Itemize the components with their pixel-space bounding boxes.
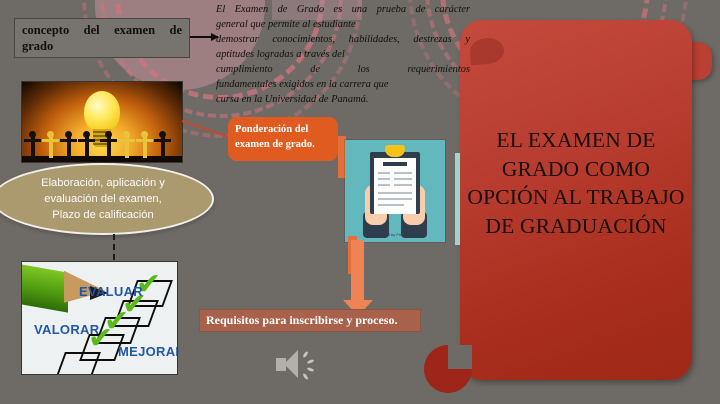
ellipse-line: Elaboración, aplicación y: [41, 175, 165, 191]
speaker-icon[interactable]: [276, 348, 320, 382]
paragraph-line: El Examen de Grado es una prueba de cará…: [216, 2, 470, 17]
elaboracion-ellipse: Elaboración, aplicación y evaluación del…: [0, 163, 214, 235]
checkbox-icon: [55, 352, 101, 374]
label-evaluar: EVALUAR: [79, 284, 143, 299]
evaluation-image: ✔ ✔ ✔ ✔ EVALUAR VALORAR MEJORAR: [22, 262, 177, 374]
clip-clamp-icon: [385, 145, 405, 157]
lightbulb-icon: [84, 91, 120, 133]
presentation-slide: EL EXAMEN DE GRADO COMO OPCIÓN AL TRABAJ…: [0, 0, 720, 404]
ellipse-line: evaluación del examen,: [41, 191, 165, 207]
image-credit: Designed by Freepik: [373, 232, 410, 237]
clipboard-icon: [370, 152, 420, 214]
teal-edge-accent: [455, 153, 460, 245]
paragraph-line: cumplimiento de los requerimientos: [216, 62, 470, 77]
paragraph-line: demostrar conocimientos, habilidades, de…: [216, 32, 470, 47]
paragraph-line: cursa en la Universidad de Panamá.: [216, 92, 470, 107]
dashed-connector: [113, 234, 115, 260]
arrow-down-icon: [351, 240, 364, 300]
paragraph-line: fundamentales exigidos en la carrera que: [216, 77, 470, 92]
label-mejorar: MEJORAR: [118, 344, 177, 359]
requisitos-label: Requisitos para inscribirse y proceso.: [206, 313, 397, 328]
paragraph-line: general que permite al estudiante: [216, 17, 470, 32]
ponderacion-callout: Ponderación del examen de grado.: [228, 117, 338, 161]
label-valorar: VALORAR: [34, 322, 99, 337]
form-paper: [374, 158, 416, 214]
paragraph-line: aptitudes logradas a través del: [216, 47, 470, 62]
requisitos-bar: Requisitos para inscribirse y proceso.: [199, 309, 421, 332]
concept-box-label: concepto del examen de grado: [22, 23, 182, 53]
clipboard-image: Designed by Freepik: [345, 140, 445, 242]
ellipse-line: Plazo de calificación: [41, 207, 165, 223]
definition-paragraph: El Examen de Grado es una prueba de cará…: [216, 2, 470, 108]
arrow-right-icon: [190, 36, 218, 38]
lightbulb-image: [22, 82, 182, 162]
concept-box: concepto del examen de grado: [14, 18, 190, 58]
page-title: EL EXAMEN DE GRADO COMO OPCIÓN AL TRABAJ…: [464, 126, 688, 240]
decorative-circle: [424, 345, 472, 393]
ponderacion-label: Ponderación del examen de grado.: [235, 124, 315, 150]
